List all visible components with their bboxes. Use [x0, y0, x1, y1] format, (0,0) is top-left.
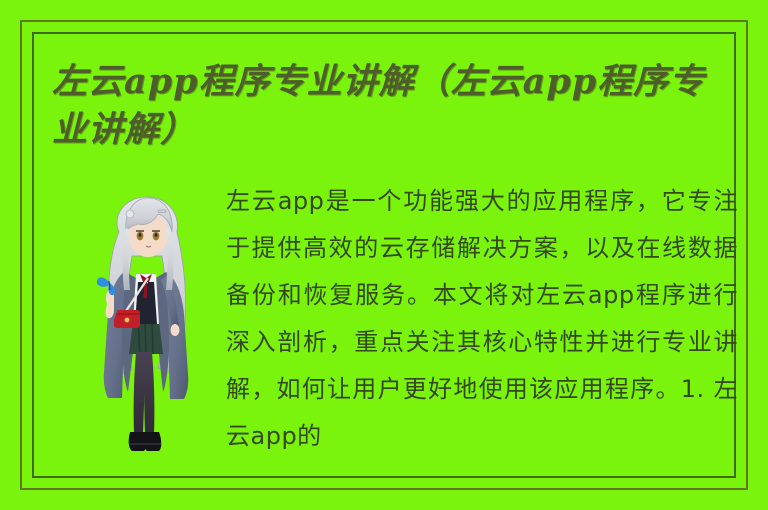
article-body: 左云app是一个功能强大的应用程序，它专注于提供高效的云存储解决方案，以及在线数…	[226, 178, 738, 460]
anime-girl-illustration	[62, 186, 228, 476]
poster-canvas: 左云app程序专业讲解（左云app程序专业讲解） 左云app是一个功能强大的应用…	[0, 0, 768, 510]
legs	[134, 352, 155, 434]
page-title: 左云app程序专业讲解（左云app程序专业讲解）	[52, 58, 722, 154]
shoes	[129, 432, 162, 451]
